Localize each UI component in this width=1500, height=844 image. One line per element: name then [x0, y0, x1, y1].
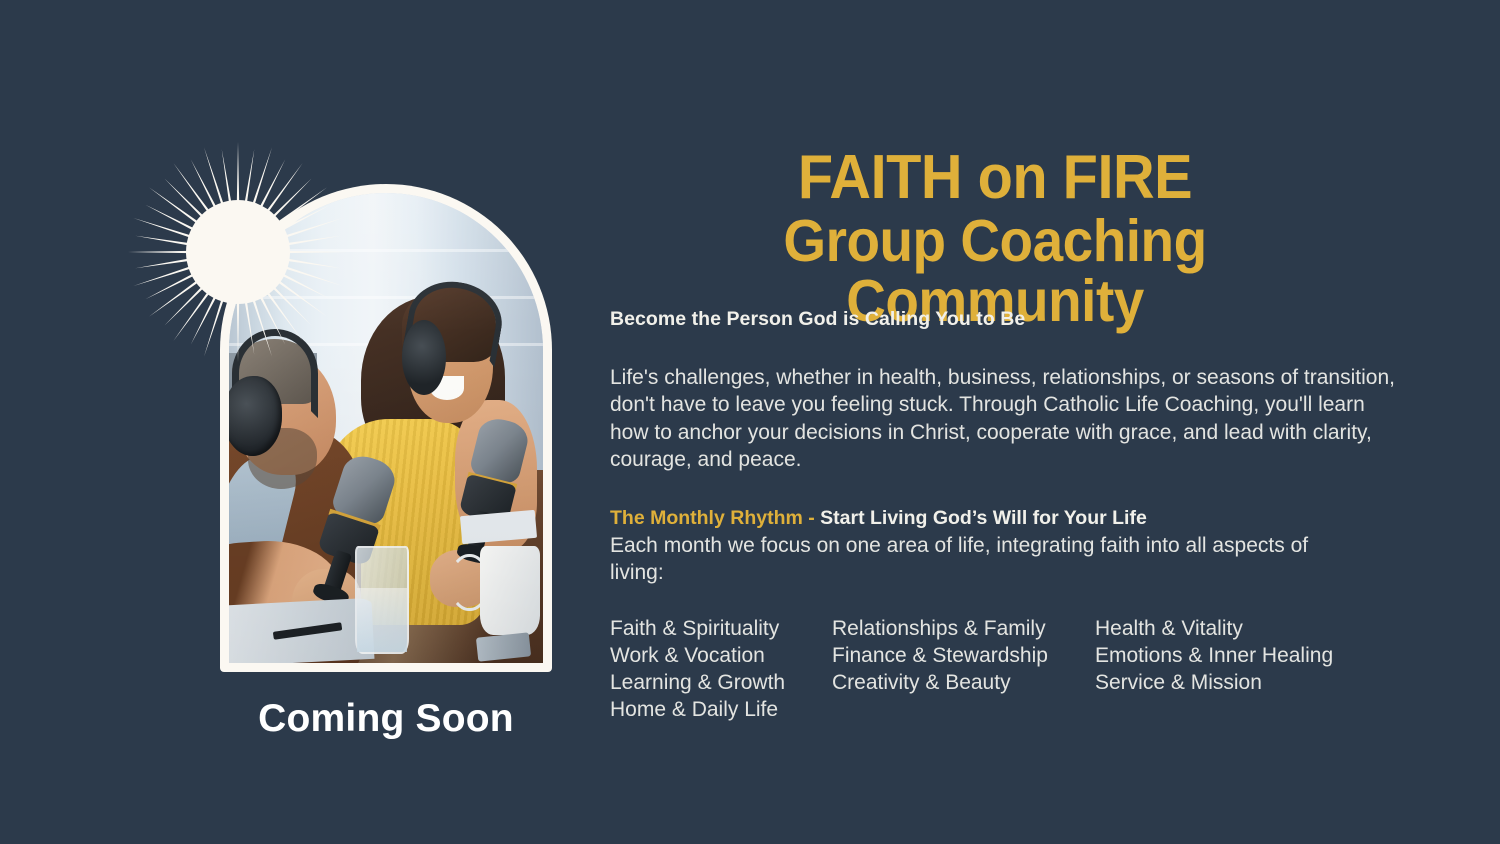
- life-area-item: Health & Vitality: [1095, 615, 1410, 642]
- life-area-item: Home & Daily Life: [610, 696, 832, 723]
- title-line-1: FAITH on FIRE: [628, 146, 1363, 209]
- lead-heading: Become the Person God is Calling You to …: [610, 308, 1410, 331]
- sunburst-icon: [126, 140, 350, 364]
- woman-headphone-cup: [402, 320, 446, 395]
- body-content: Become the Person God is Calling You to …: [610, 308, 1410, 723]
- page-title: FAITH on FIRE Group Coaching Community: [600, 146, 1390, 332]
- monthly-rhythm-label: The Monthly Rhythm -: [610, 507, 820, 529]
- photo-water-glass: [355, 546, 409, 653]
- intro-paragraph: Life's challenges, whether in health, bu…: [610, 364, 1400, 473]
- life-area-item: Emotions & Inner Healing: [1095, 642, 1410, 669]
- life-area-item: Work & Vocation: [610, 642, 832, 669]
- photo-mug: [480, 546, 540, 635]
- monthly-rhythm-headline: Start Living God’s Will for Your Life: [820, 507, 1147, 529]
- life-area-item: Relationships & Family: [832, 615, 1095, 642]
- slide-canvas: Coming Soon FAITH on FIRE Group Coaching…: [0, 0, 1500, 844]
- life-area-item: Finance & Stewardship: [832, 642, 1095, 669]
- left-panel: Coming Soon: [0, 0, 600, 844]
- monthly-rhythm-subtext: Each month we focus on one area of life,…: [610, 532, 1330, 587]
- right-panel: FAITH on FIRE Group Coaching Community B…: [600, 0, 1500, 844]
- life-area-item: Service & Mission: [1095, 669, 1410, 696]
- life-area-item: Faith & Spirituality: [610, 615, 832, 642]
- life-area-item: Learning & Growth: [610, 669, 832, 696]
- life-area-item: Creativity & Beauty: [832, 669, 1095, 696]
- life-areas-grid: Faith & SpiritualityRelationships & Fami…: [610, 615, 1410, 723]
- monthly-rhythm-heading: The Monthly Rhythm - Start Living God’s …: [610, 507, 1410, 530]
